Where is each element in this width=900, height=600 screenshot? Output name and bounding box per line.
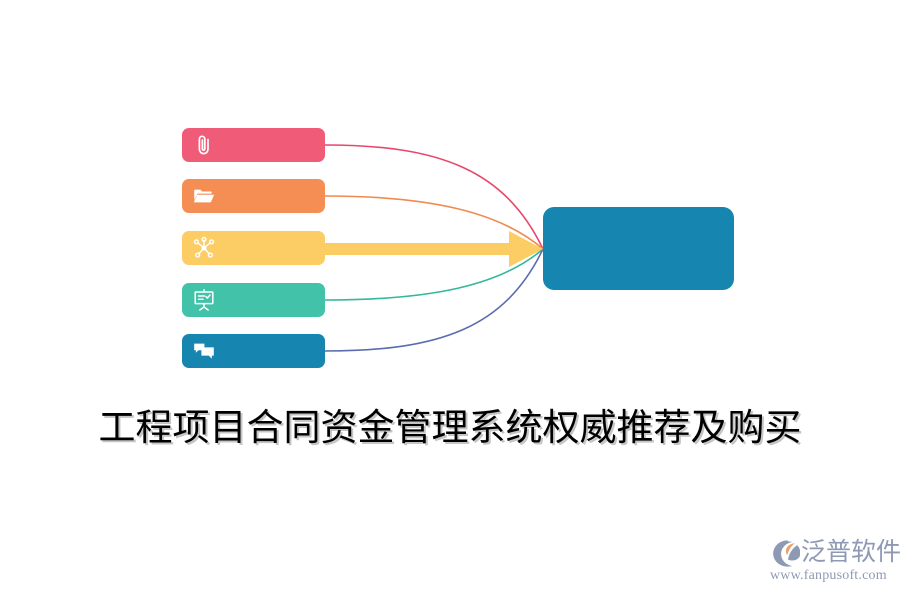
- connector-arrow-3: [325, 231, 543, 267]
- folder-icon: [192, 184, 216, 208]
- paperclip-icon: [192, 133, 216, 157]
- flow-item-5[interactable]: [182, 334, 325, 368]
- diagram-canvas: 工程项目合同资金管理系统权威推荐及购买 泛普软件 www.fanpusoft.c…: [0, 0, 900, 600]
- brand-name: 泛普软件: [801, 539, 900, 567]
- connector-path-2: [325, 196, 543, 249]
- presentation-board-icon: [192, 288, 216, 312]
- brand-logo[interactable]: 泛普软件 www.fanpusoft.com: [770, 537, 892, 585]
- chat-bubbles-icon: [192, 339, 216, 363]
- flow-item-2[interactable]: [182, 179, 325, 213]
- connector-path-5: [325, 249, 543, 351]
- connector-path-4: [325, 249, 543, 300]
- network-hub-icon: [192, 236, 216, 260]
- connector-layer: [0, 0, 900, 600]
- flow-item-3[interactable]: [182, 231, 325, 265]
- flow-item-4[interactable]: [182, 283, 325, 317]
- brand-url: www.fanpusoft.com: [770, 568, 892, 584]
- fanpu-logo-icon: [770, 539, 800, 567]
- flow-item-1[interactable]: [182, 128, 325, 162]
- connector-path-1: [325, 145, 543, 249]
- page-title: 工程项目合同资金管理系统权威推荐及购买: [0, 404, 900, 454]
- flow-target-box[interactable]: [543, 207, 734, 290]
